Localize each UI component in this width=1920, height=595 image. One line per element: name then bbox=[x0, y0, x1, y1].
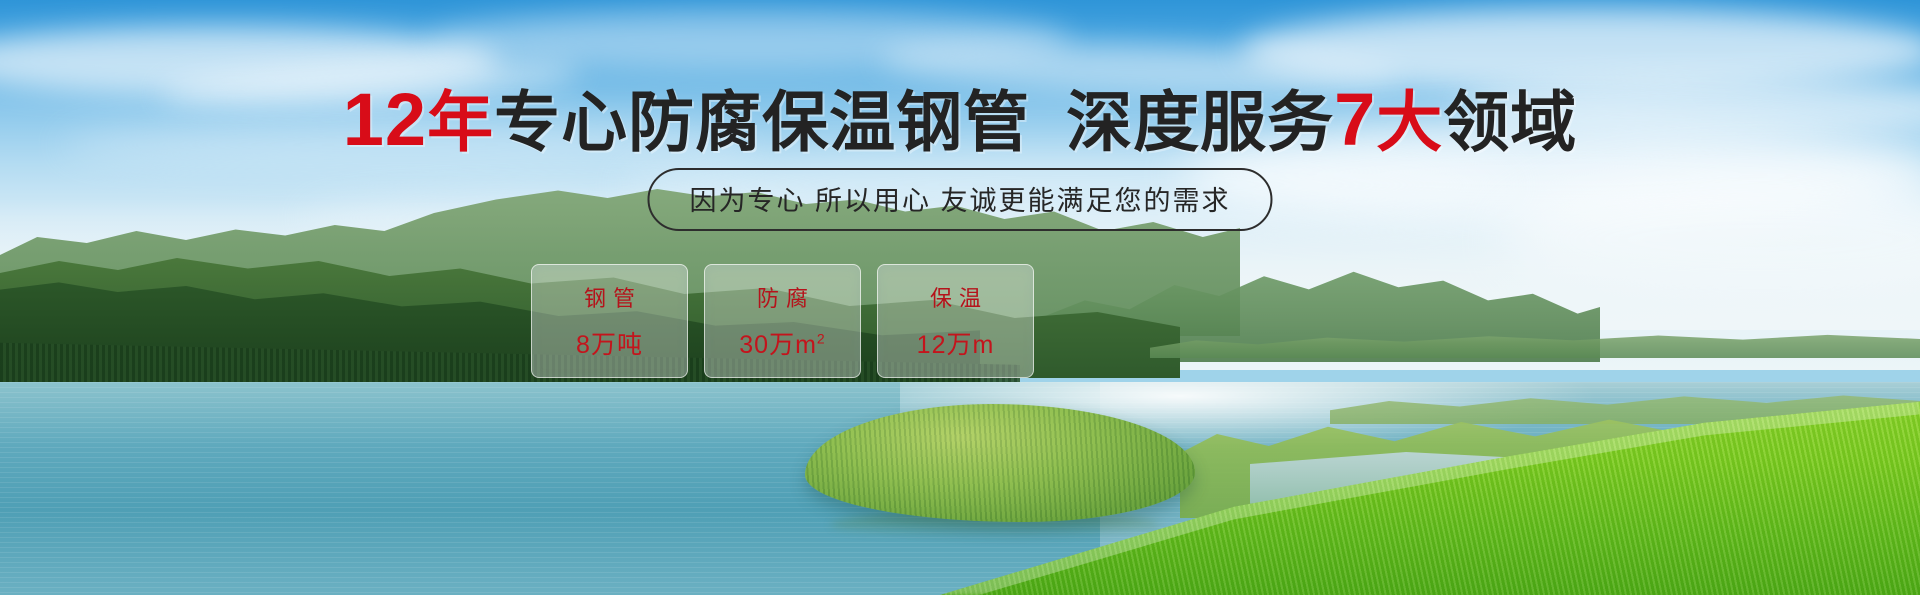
headline-years-number: 12 bbox=[343, 78, 427, 161]
headline-main-text: 专心防腐保温钢管 bbox=[494, 85, 1030, 159]
stat-value-text: 30万m bbox=[739, 331, 817, 359]
stat-value-text: 8万吨 bbox=[576, 331, 643, 359]
stat-card-anticorrosion[interactable]: 防腐 30万m2 bbox=[704, 264, 861, 378]
stat-value-text: 12万m bbox=[917, 331, 995, 359]
banner-headline: 12年专心防腐保温钢管深度服务7大领域 bbox=[0, 83, 1920, 157]
stat-value: 30万m2 bbox=[739, 325, 825, 361]
stat-value: 8万吨 bbox=[576, 325, 643, 361]
stat-card-insulation[interactable]: 保温 12万m bbox=[877, 264, 1034, 378]
stat-value-superscript: 2 bbox=[817, 331, 826, 347]
headline-fields-unit: 大 bbox=[1376, 85, 1443, 159]
headline-fields-text: 领域 bbox=[1443, 85, 1577, 159]
stat-label: 钢管 bbox=[577, 281, 642, 313]
headline-years-unit: 年 bbox=[427, 85, 494, 159]
stat-card-steel-pipe[interactable]: 钢管 8万吨 bbox=[531, 264, 688, 378]
stat-label: 防腐 bbox=[750, 281, 815, 313]
stat-label: 保温 bbox=[923, 281, 988, 313]
headline-service-text: 深度服务 bbox=[1066, 85, 1334, 159]
banner-subtitle-pill: 因为专心 所以用心 友诚更能满足您的需求 bbox=[647, 168, 1272, 231]
stat-card-group: 钢管 8万吨 防腐 30万m2 保温 12万m bbox=[531, 264, 1034, 378]
headline-fields-number: 7 bbox=[1334, 78, 1376, 161]
stat-value: 12万m bbox=[917, 325, 995, 361]
promo-banner: 12年专心防腐保温钢管深度服务7大领域 因为专心 所以用心 友诚更能满足您的需求… bbox=[0, 0, 1920, 595]
